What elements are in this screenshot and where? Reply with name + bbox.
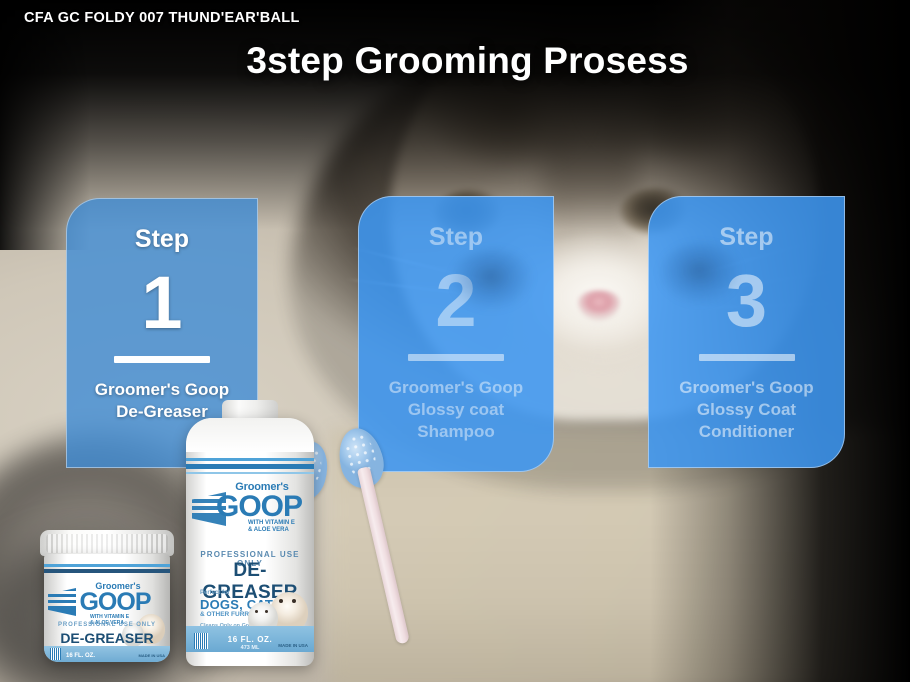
- step-description-1-line2: De-Greaser: [77, 401, 247, 423]
- step-description-3-line1: Groomer's Goop: [659, 377, 834, 399]
- cattery-title-text: CFA GC FOLDY 007 THUND'EAR'BALL: [24, 10, 300, 26]
- step-description-3: Groomer's Goop Glossy Coat Conditioner: [649, 377, 844, 442]
- step-description-2-line1: Groomer's Goop: [369, 377, 543, 399]
- step-card-1[interactable]: Step 1 Groomer's Goop De-Greaser: [66, 198, 258, 468]
- step-description-1-line1: Groomer's Goop: [77, 379, 247, 401]
- step-number-2: 2: [359, 264, 553, 338]
- step-label-1: Step: [67, 227, 257, 252]
- step-divider-1: [114, 356, 210, 363]
- step-label-2: Step: [359, 225, 553, 250]
- slide-canvas: CFA GC FOLDY 007 THUND'EAR'BALL 3step Gr…: [0, 0, 910, 682]
- step-description-2-line2: Glossy coat: [369, 399, 543, 421]
- step-number-3: 3: [649, 264, 844, 338]
- step-description-2-line3: Shampoo: [369, 421, 543, 443]
- step-divider-3: [699, 354, 795, 361]
- step-description-3-line2: Glossy Coat: [659, 399, 834, 421]
- step-number-1: 1: [67, 266, 257, 340]
- step-divider-2: [408, 354, 504, 361]
- step-description-3-line3: Conditioner: [659, 421, 834, 443]
- step-label-3: Step: [649, 225, 844, 250]
- step-description-1: Groomer's Goop De-Greaser: [67, 379, 257, 423]
- step-card-2[interactable]: Step 2 Groomer's Goop Glossy coat Shampo…: [358, 196, 554, 472]
- step-description-2: Groomer's Goop Glossy coat Shampoo: [359, 377, 553, 442]
- step-card-3[interactable]: Step 3 Groomer's Goop Glossy Coat Condit…: [648, 196, 845, 468]
- page-title: 3step Grooming Prosess: [0, 40, 910, 82]
